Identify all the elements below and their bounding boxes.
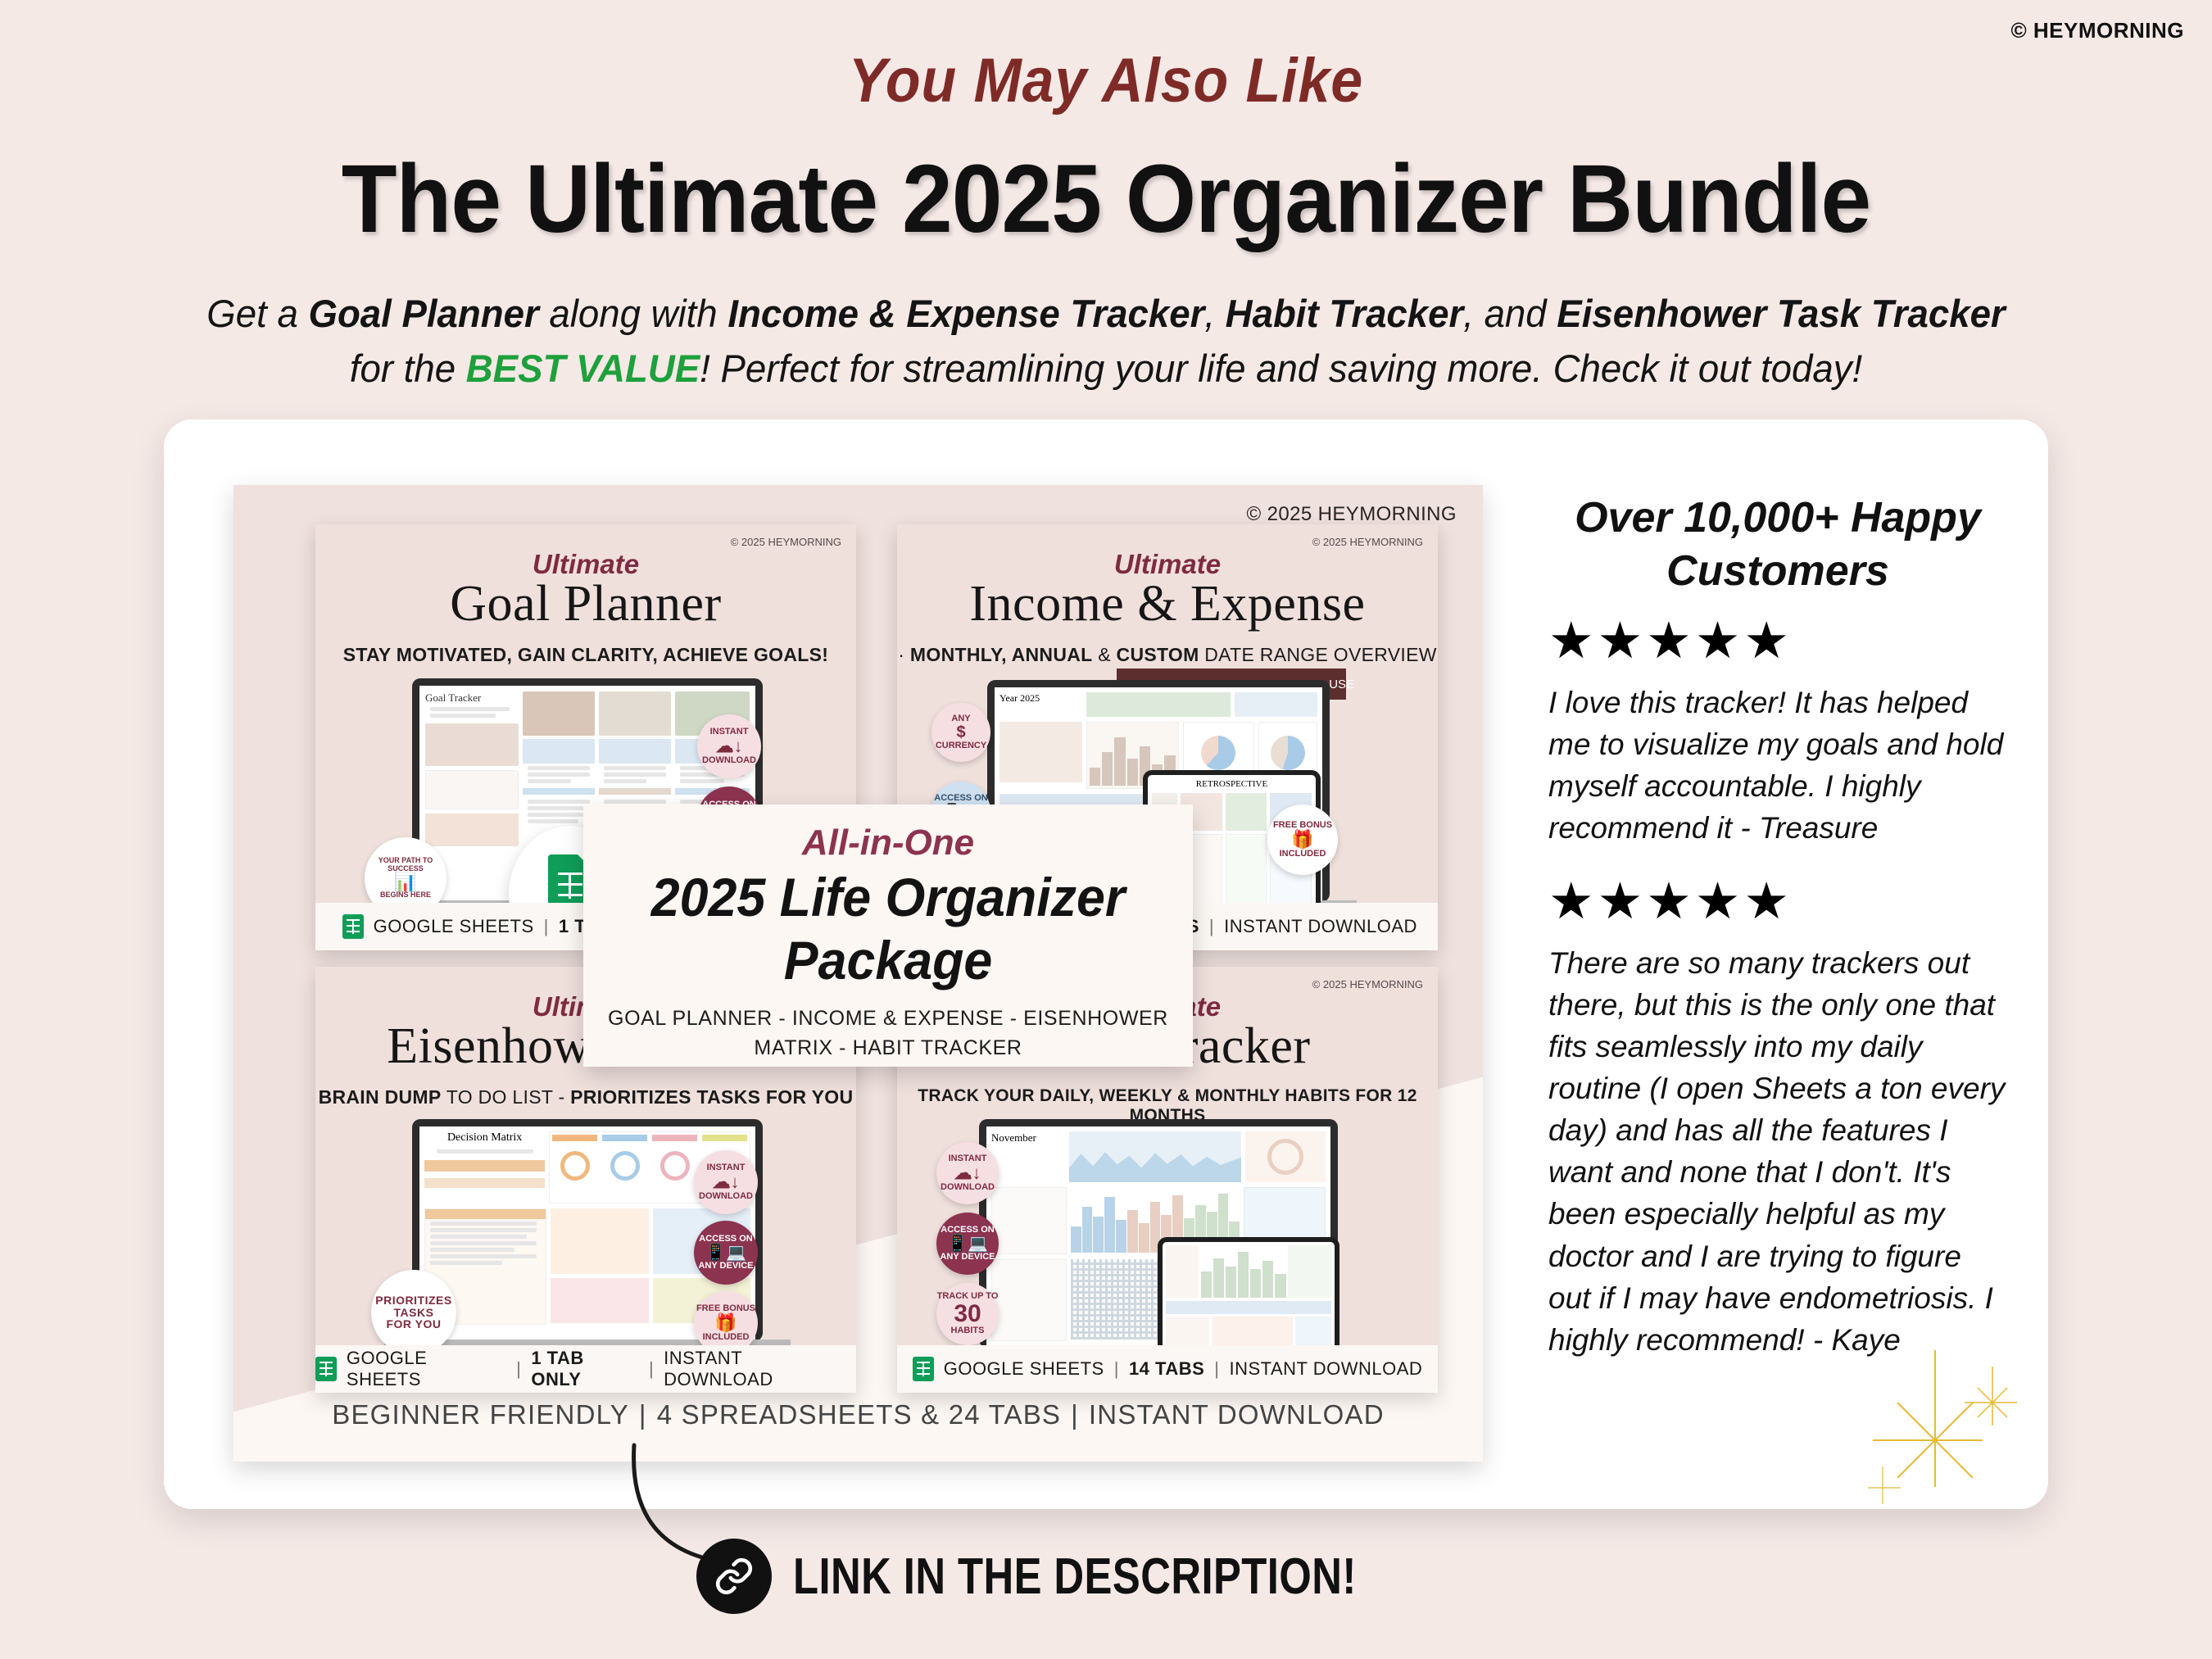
card-copyright: © 2025 HEYMORNING [1312, 536, 1423, 548]
badge-top-label: YOUR PATH TO SUCCESS [365, 857, 446, 873]
sheets-icon [342, 914, 364, 939]
badge-line-1: PRIORITIZES [375, 1294, 451, 1307]
badge-bottom-label: BEGINS HERE [380, 891, 431, 899]
collage-copyright: © 2025 HEYMORNING [1246, 503, 1457, 526]
card-copyright: © 2025 HEYMORNING [731, 536, 841, 548]
badge-line-2: TASKS [394, 1307, 434, 1319]
sheet-title: Decision Matrix [424, 1131, 545, 1145]
footer-sep-2: | [1071, 1399, 1079, 1430]
subtitle-p1: Get a [206, 292, 308, 335]
currency-icon: $ [956, 724, 965, 741]
footer-download: INSTANT DOWNLOAD [664, 1348, 856, 1390]
gift-icon: 🎁 [714, 1313, 737, 1332]
happy-count: Over 10,000+ [1575, 494, 1838, 542]
collage-footer: BEGINNER FRIENDLY|4 SPREADSHEETS & 24 TA… [233, 1399, 1483, 1430]
testimonial-text-1: I love this tracker! It has helped me to… [1548, 682, 2007, 849]
package-overlay-label: All-in-One 2025 Life Organizer Package G… [583, 805, 1193, 1067]
badge-any-device: ACCESS ON 📱💻 ANY DEVICE [694, 1221, 758, 1285]
card-tagline: STAY MOTIVATED, GAIN CLARITY, ACHIEVE GO… [315, 644, 856, 666]
donut-chart [1267, 1139, 1303, 1175]
overlay-eyebrow: All-in-One [583, 823, 1193, 863]
growth-chart-icon: 📊 [394, 873, 416, 891]
best-value-highlight: BEST VALUE [466, 347, 700, 390]
badge-number: 30 [954, 1302, 981, 1326]
badge-top-label: ACCESS ON [941, 1226, 994, 1235]
ribbon-post: USE [1329, 678, 1354, 691]
footer-beginner: BEGINNER FRIENDLY [332, 1399, 629, 1430]
footer-app: GOOGLE SHEETS [374, 916, 534, 937]
tagline-b1: BRAIN DUMP [319, 1086, 442, 1108]
page-title: The Ultimate 2025 Organizer Bundle [66, 143, 2146, 255]
badge-prioritizes-tasks: PRIORITIZES TASKS FOR YOU [371, 1270, 456, 1355]
badge-bottom-label: DOWNLOAD [941, 1183, 995, 1193]
happy-customers-heading: Over 10,000+ Happy Customers [1548, 492, 2007, 598]
eyebrow-heading: You May Also Like [88, 45, 2124, 116]
footer-app: GOOGLE SHEETS [944, 1358, 1104, 1380]
badge-instant-download: INSTANT ☁↓ DOWNLOAD [694, 1150, 758, 1214]
subtitle-b4: Eisenhower Task Tracker [1557, 292, 2005, 335]
tagline-pre: · [898, 644, 910, 665]
tagline-b2: CUSTOM [1117, 644, 1199, 665]
badge-bottom-label: DOWNLOAD [699, 1192, 753, 1202]
subtitle-p2: along with [539, 292, 728, 335]
tagline-mid: TO DO LIST - [442, 1086, 571, 1108]
footer-spreadsheets: 4 SPREADSHEETS & 24 TABS [657, 1399, 1061, 1430]
badge-bottom-label: HABITS [951, 1326, 985, 1336]
subtitle-p3: , [1204, 292, 1225, 335]
tagline-mid: & [1093, 644, 1117, 665]
tablet-title: RETROSPECTIVE [1152, 779, 1312, 789]
testimonials-panel: Over 10,000+ Happy Customers ★★★★★ I lov… [1548, 492, 2007, 1361]
tagline-b1: MONTHLY, ANNUAL [910, 644, 1093, 665]
sheets-icon [315, 1357, 337, 1381]
sheet-title: November [991, 1131, 1065, 1182]
tagline-b2: PRIORITIZES TASKS FOR YOU [570, 1086, 853, 1108]
card-title: Income & Expense [897, 575, 1438, 633]
badge-track-habits: TRACK UP TO 30 HABITS [936, 1283, 999, 1345]
overlay-subtitle-line-1: GOAL PLANNER - INCOME & EXPENSE - EISENH… [583, 1004, 1193, 1033]
subtitle-b1: Goal Planner [308, 292, 538, 335]
devices-icon: 📱💻 [947, 1235, 988, 1253]
badge-any-device: ACCESS ON 📱💻 ANY DEVICE [936, 1213, 999, 1275]
download-cloud-icon: ☁↓ [713, 1172, 740, 1191]
footer-sep-1: | [639, 1399, 647, 1430]
download-cloud-icon: ☁↓ [954, 1163, 981, 1182]
overlay-title-line-2: Package [599, 931, 1178, 990]
footer-tabs: 1 TAB ONLY [531, 1348, 639, 1390]
devices-icon: 📱💻 [705, 1244, 746, 1262]
badge-top-label: ANY [951, 714, 970, 724]
page-copyright: © HEYMORNING [2011, 18, 2185, 43]
badge-bottom-label: DOWNLOAD [702, 756, 756, 766]
subtitle-p5: for the [350, 347, 466, 390]
star-rating-2: ★★★★★ [1548, 877, 2007, 927]
badge-instant-download: INSTANT ☁↓ DOWNLOAD [697, 714, 761, 778]
card-copyright: © 2025 HEYMORNING [1312, 978, 1423, 990]
sheet-title: Year 2025 [999, 692, 1082, 717]
subtitle-p6: ! Perfect for streamlining your life and… [700, 347, 1862, 390]
footer-instant: INSTANT DOWNLOAD [1089, 1399, 1385, 1430]
page-subtitle: Get a Goal Planner along with Income & E… [204, 287, 2008, 396]
testimonial-text-2: There are so many trackers out there, bu… [1548, 942, 2007, 1360]
card-footer: GOOGLE SHEETS |14 TABS |INSTANT DOWNLOAD [897, 1345, 1438, 1393]
badge-bottom-label: CURRENCY [936, 741, 986, 751]
badge-bottom-label: ANY DEVICE [698, 1262, 753, 1271]
footer-download: INSTANT DOWNLOAD [1224, 916, 1417, 937]
badge-top-label: ACCESS ON [934, 794, 987, 804]
overlay-subtitle-line-2: MATRIX - HABIT TRACKER [583, 1033, 1193, 1063]
badge-line-3: FOR YOU [386, 1318, 441, 1330]
badge-top-label: ACCESS ON [699, 1235, 752, 1244]
badge-bottom-label: INCLUDED [703, 1333, 750, 1343]
footer-app: GOOGLE SHEETS [347, 1348, 506, 1390]
subtitle-b3: Habit Tracker [1226, 292, 1464, 335]
footer-tabs: 14 TABS [1129, 1358, 1204, 1380]
sheets-icon [913, 1357, 934, 1381]
star-rating-1: ★★★★★ [1548, 616, 2007, 667]
badge-bottom-label: ANY DEVICE [940, 1253, 995, 1262]
gift-icon: 🎁 [1291, 830, 1313, 849]
card-title: Goal Planner [315, 575, 856, 633]
link-icon [696, 1539, 772, 1614]
badge-bottom-label: INCLUDED [1280, 850, 1326, 859]
badge-free-bonus: FREE BONUS 🎁 INCLUDED [1267, 805, 1338, 875]
card-footer: GOOGLE SHEETS |1 TAB ONLY |INSTANT DOWNL… [315, 1345, 856, 1393]
pie-chart-expense [1271, 736, 1305, 770]
badge-any-currency: ANY $ CURRENCY [931, 703, 990, 762]
subtitle-b2: Income & Expense Tracker [728, 292, 1204, 335]
sheet-title: Goal Tracker [425, 691, 519, 705]
overlay-title-line-1: 2025 Life Organizer [599, 868, 1178, 927]
subtitle-p4: , and [1463, 292, 1557, 335]
pie-chart-income [1201, 736, 1235, 770]
cta-label: LINK IN THE DESCRIPTION! [793, 1548, 1357, 1606]
footer-download: INSTANT DOWNLOAD [1230, 1358, 1423, 1380]
badge-instant-download: INSTANT ☁↓ DOWNLOAD [936, 1142, 999, 1204]
overlay-subtitle: GOAL PLANNER - INCOME & EXPENSE - EISENH… [583, 1004, 1193, 1063]
cta-link-in-description[interactable]: LINK IN THE DESCRIPTION! [696, 1539, 1480, 1614]
card-tagline: BRAIN DUMP TO DO LIST - PRIORITIZES TASK… [315, 1086, 856, 1108]
download-cloud-icon: ☁↓ [716, 737, 743, 755]
